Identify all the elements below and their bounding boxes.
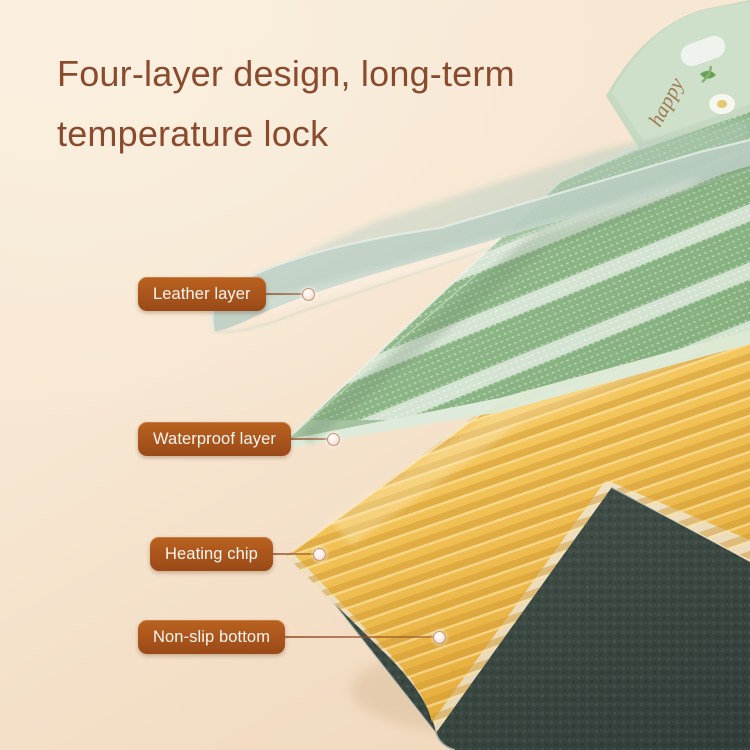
callout-heating-chip[interactable]: Heating chip — [150, 537, 326, 571]
leader-line-heating — [271, 553, 315, 555]
badge-nonslip-bottom[interactable]: Non-slip bottom — [138, 620, 285, 654]
anchor-dot-leather — [302, 288, 315, 301]
callout-leather-layer[interactable]: Leather layer — [138, 277, 315, 311]
badge-heating-chip[interactable]: Heating chip — [150, 537, 273, 571]
leader-line-leather — [264, 293, 304, 295]
badge-waterproof-layer[interactable]: Waterproof layer — [138, 422, 291, 456]
infographic-canvas: Four-layer design, long-term temperature… — [0, 0, 750, 750]
leader-line-waterproof — [289, 438, 329, 440]
anchor-dot-waterproof — [327, 433, 340, 446]
leader-line-nonslip — [283, 636, 435, 638]
callout-nonslip-bottom[interactable]: Non-slip bottom — [138, 620, 446, 654]
badge-leather-layer[interactable]: Leather layer — [138, 277, 266, 311]
anchor-dot-nonslip — [433, 631, 446, 644]
callout-waterproof-layer[interactable]: Waterproof layer — [138, 422, 340, 456]
anchor-dot-heating — [313, 548, 326, 561]
